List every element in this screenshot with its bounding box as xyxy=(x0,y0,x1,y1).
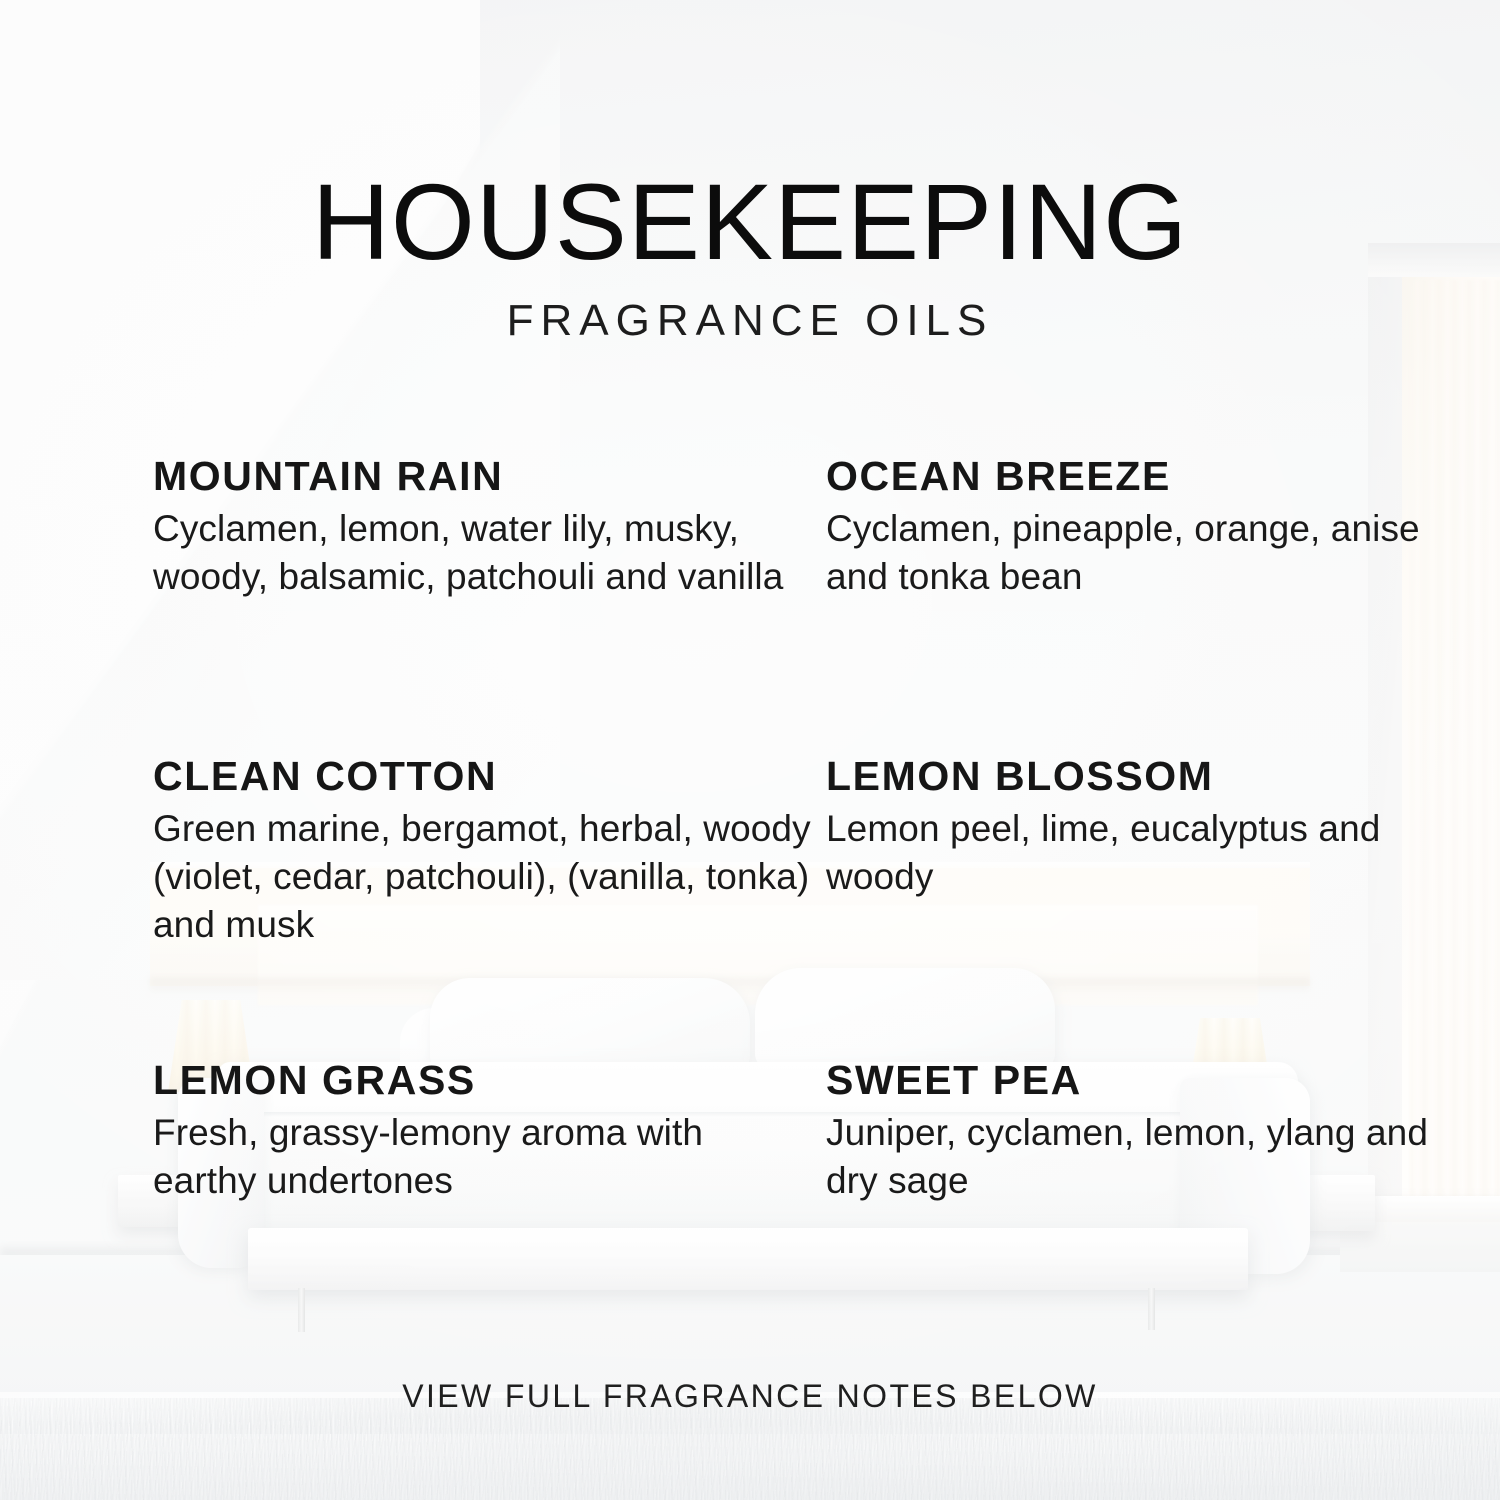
fragrance-item-ocean-breeze: OCEAN BREEZE Cyclamen, pineapple, orange… xyxy=(826,456,1466,601)
fragrance-item-clean-cotton: CLEAN COTTON Green marine, bergamot, her… xyxy=(153,756,813,949)
fragrance-notes: Juniper, cyclamen, lemon, ylang and dry … xyxy=(826,1109,1466,1205)
fragrance-notes: Fresh, grassy-lemony aroma with earthy u… xyxy=(153,1109,813,1205)
fragrance-notes: Cyclamen, pineapple, orange, anise and t… xyxy=(826,505,1466,601)
fragrance-name: OCEAN BREEZE xyxy=(826,456,1466,497)
fragrance-item-lemon-grass: LEMON GRASS Fresh, grassy-lemony aroma w… xyxy=(153,1060,813,1205)
fragrance-name: MOUNTAIN RAIN xyxy=(153,456,813,497)
fragrance-item-lemon-blossom: LEMON BLOSSOM Lemon peel, lime, eucalypt… xyxy=(826,756,1466,901)
fragrance-name: LEMON GRASS xyxy=(153,1060,813,1101)
fragrance-notes: Cyclamen, lemon, water lily, musky, wood… xyxy=(153,505,813,601)
fragrance-notes: Lemon peel, lime, eucalyptus and woody xyxy=(826,805,1466,901)
view-notes-cta: VIEW FULL FRAGRANCE NOTES BELOW xyxy=(0,1378,1500,1415)
fragrance-name: LEMON BLOSSOM xyxy=(826,756,1466,797)
fragrance-notes: Green marine, bergamot, herbal, woody (v… xyxy=(153,805,813,949)
page-subtitle: FRAGRANCE OILS xyxy=(0,298,1500,344)
fragrance-name: SWEET PEA xyxy=(826,1060,1466,1101)
fragrance-item-mountain-rain: MOUNTAIN RAIN Cyclamen, lemon, water lil… xyxy=(153,456,813,601)
text-overlay: HOUSEKEEPING FRAGRANCE OILS MOUNTAIN RAI… xyxy=(0,0,1500,1500)
product-infographic: HOUSEKEEPING FRAGRANCE OILS MOUNTAIN RAI… xyxy=(0,0,1500,1500)
page-title: HOUSEKEEPING xyxy=(0,168,1500,276)
fragrance-name: CLEAN COTTON xyxy=(153,756,813,797)
fragrance-item-sweet-pea: SWEET PEA Juniper, cyclamen, lemon, ylan… xyxy=(826,1060,1466,1205)
